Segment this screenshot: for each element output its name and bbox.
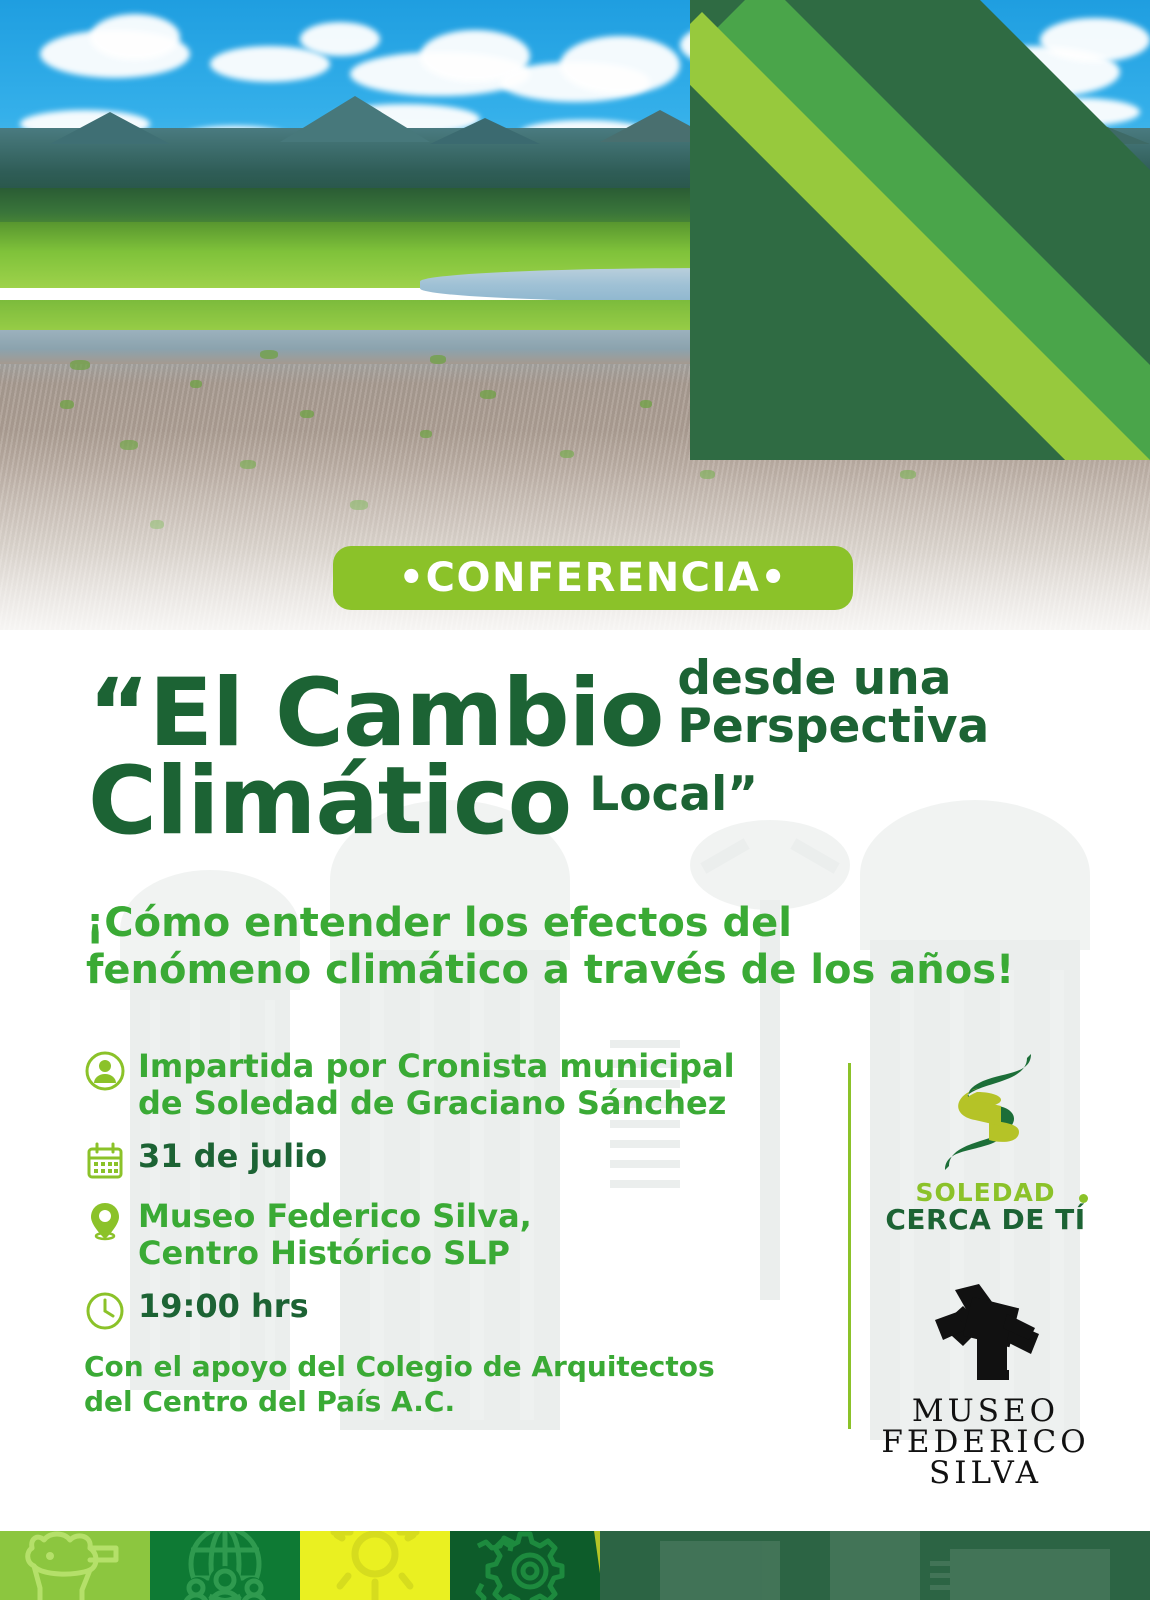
museo-logo-line-2: FEDERICO [881,1427,1089,1458]
poster-canvas: •CONFERENCIA• “El Cambio desde una Persp… [0,0,1150,1600]
support-note: Con el apoyo del Colegio de Arquitectos … [84,1350,804,1418]
soledad-logo-text-bottom-label: CERCA DE TÍ [885,1203,1085,1236]
detail-date-line-1: 31 de julio [138,1137,327,1175]
footer-tile-gears [450,1531,600,1600]
detail-venue-line-1: Museo Federico Silva, [138,1197,532,1235]
conferencia-badge-label: •CONFERENCIA• [399,555,788,601]
cow-icon [20,1531,130,1600]
location-pin-icon [84,1200,126,1242]
event-details: Impartida por Cronista municipal de Sole… [84,1048,804,1419]
museo-federico-silva-logo: MUSEO FEDERICO SILVA [878,1278,1093,1493]
detail-speaker-text: Impartida por Cronista municipal de Sole… [138,1048,735,1122]
detail-time: 19:00 hrs [84,1288,804,1332]
soledad-logo-text-top: SOLEDAD [915,1180,1055,1205]
sun-icon [320,1531,430,1600]
detail-speaker-line-1: Impartida por Cronista municipal [138,1047,735,1085]
support-line-2: del Centro del País A.C. [84,1385,804,1419]
detail-venue: Museo Federico Silva, Centro Histórico S… [84,1198,804,1272]
subtitle: ¡Cómo entender los efectos del fenómeno … [86,900,1086,994]
calendar-icon [84,1140,126,1182]
detail-venue-text: Museo Federico Silva, Centro Histórico S… [138,1198,532,1272]
detail-time-line-1: 19:00 hrs [138,1287,309,1325]
soledad-logo-text-bottom: CERCA DE TÍ [885,1205,1085,1234]
s-ribbon-logo-icon [927,1048,1045,1176]
clock-icon [84,1290,126,1332]
footer-band [600,1531,1150,1600]
title-small-line-2: Perspectiva [677,703,989,751]
title-small-block: desde una Perspectiva [677,655,989,760]
footer-band-watermark [600,1531,1150,1600]
footer-tile-sun [300,1531,450,1600]
footer-tile-cow [0,1531,150,1600]
detail-venue-line-2: Centro Histórico SLP [138,1235,532,1272]
museo-sculpture-icon [911,1278,1061,1396]
subtitle-line-1: ¡Cómo entender los efectos del [86,900,1086,947]
soledad-logo-dot [1079,1194,1088,1203]
conferencia-badge: •CONFERENCIA• [333,546,853,610]
gears-icon [470,1531,580,1600]
title-small-line-1: desde una [677,651,951,706]
detail-date: 31 de julio [84,1138,804,1182]
title-small-line-3: Local” [589,756,758,819]
vertical-divider [848,1063,851,1429]
person-icon [84,1050,126,1092]
detail-speaker: Impartida por Cronista municipal de Sole… [84,1048,804,1122]
detail-time-text: 19:00 hrs [138,1288,309,1325]
museo-logo-text: MUSEO FEDERICO SILVA [881,1396,1089,1489]
support-line-1: Con el apoyo del Colegio de Arquitectos [84,1350,715,1383]
footer-icon-strip [0,1531,1150,1600]
footer-tile-globe [150,1531,300,1600]
detail-speaker-line-2: de Soledad de Graciano Sánchez [138,1085,735,1122]
museo-logo-line-3: SILVA [881,1458,1089,1489]
museo-logo-line-1: MUSEO [881,1396,1089,1427]
detail-date-text: 31 de julio [138,1138,327,1175]
globe-people-icon [170,1531,280,1600]
soledad-logo: SOLEDAD CERCA DE TÍ [878,1048,1093,1248]
corner-decoration [690,0,1150,460]
subtitle-line-2: fenómeno climático a través de los años! [86,947,1086,994]
page-title: “El Cambio desde una Perspectiva Climáti… [88,655,1088,848]
title-word-climatico: Climático [88,756,571,848]
